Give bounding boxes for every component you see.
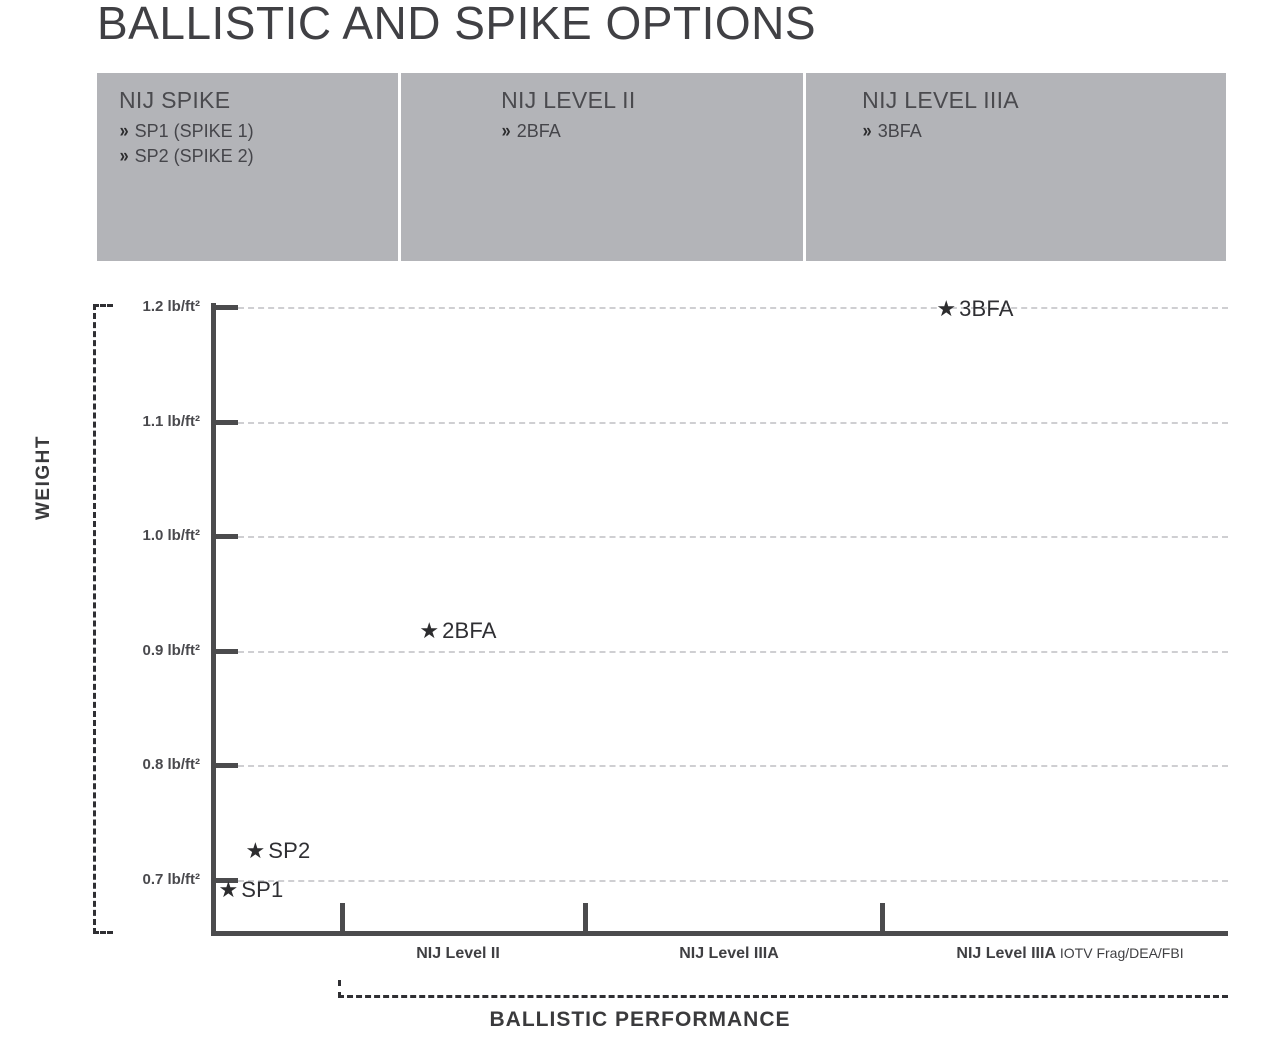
star-icon: ★ — [419, 620, 439, 642]
x-axis-tick-label: NIJ Level IIIA — [679, 945, 779, 963]
data-point-label: SP2 — [268, 838, 310, 864]
category-box-group: NIJ SPIKE » SP1 (SPIKE 1) » SP2 (SPIKE 2… — [97, 73, 1226, 261]
x-axis-tick — [583, 903, 588, 931]
y-axis-tick — [216, 649, 238, 654]
category-box-nij-level-iiia[interactable]: NIJ LEVEL IIIA » 3BFA — [806, 73, 1226, 261]
y-axis-tick — [216, 305, 238, 310]
data-point-sp2[interactable]: ★SP2 — [246, 838, 311, 864]
category-item-label: SP2 (SPIKE 2) — [135, 146, 254, 167]
data-point-sp1[interactable]: ★SP1 — [219, 877, 284, 903]
x-axis-tick — [880, 903, 885, 931]
x-axis-tick-label-main: NIJ Level IIIA — [679, 945, 779, 962]
category-list-item[interactable]: » 2BFA — [501, 121, 803, 142]
x-axis-tick — [340, 903, 345, 931]
gridline — [238, 422, 1228, 424]
y-axis-tick — [216, 763, 238, 768]
y-axis-tick-label: 1.1 lb/ft² — [80, 413, 200, 430]
y-axis-tick — [216, 420, 238, 425]
y-axis-tick-label: 0.9 lb/ft² — [80, 642, 200, 659]
gridline — [238, 651, 1228, 653]
chevron-double-right-icon: » — [863, 122, 869, 141]
chevron-double-right-icon: » — [120, 147, 126, 166]
y-axis-tick-label: 1.2 lb/ft² — [80, 298, 200, 315]
y-axis-tick — [216, 534, 238, 539]
x-axis-line — [211, 931, 1228, 936]
x-axis-tick-label: NIJ Level IIIA IOTV Frag/DEA/FBI — [956, 945, 1183, 963]
category-list-item[interactable]: » 3BFA — [862, 121, 1226, 142]
category-box-nij-spike[interactable]: NIJ SPIKE » SP1 (SPIKE 1) » SP2 (SPIKE 2… — [97, 73, 398, 261]
data-point-3bfa[interactable]: ★3BFA — [936, 296, 1013, 322]
y-axis-line — [211, 303, 216, 936]
gridline — [238, 307, 1228, 309]
weight-range-bracket — [93, 304, 113, 934]
y-axis-tick-label: 1.0 lb/ft² — [80, 527, 200, 544]
gridline — [238, 880, 1228, 882]
chevron-double-right-icon: » — [502, 122, 508, 141]
gridline — [238, 536, 1228, 538]
x-axis-tick-label: NIJ Level II — [416, 945, 500, 963]
category-title: NIJ SPIKE — [119, 87, 398, 114]
category-title: NIJ LEVEL II — [501, 87, 803, 114]
star-icon: ★ — [219, 879, 239, 901]
category-list-item[interactable]: » SP2 (SPIKE 2) — [119, 146, 398, 167]
chevron-double-right-icon: » — [120, 122, 126, 141]
gridline — [238, 765, 1228, 767]
ballistic-performance-range-bracket — [338, 980, 1228, 998]
data-point-label: SP1 — [241, 877, 283, 903]
y-axis-tick-label: 0.7 lb/ft² — [80, 871, 200, 888]
x-axis-tick-label-main: NIJ Level II — [416, 945, 500, 962]
category-list-item[interactable]: » SP1 (SPIKE 1) — [119, 121, 398, 142]
y-axis-tick-label: 0.8 lb/ft² — [80, 756, 200, 773]
page-title: BALLISTIC AND SPIKE OPTIONS — [97, 0, 816, 50]
y-axis-title: WEIGHT — [33, 435, 55, 520]
x-axis-tick-label-sub: IOTV Frag/DEA/FBI — [1056, 945, 1184, 961]
star-icon: ★ — [246, 840, 266, 862]
category-item-label: 2BFA — [517, 121, 561, 142]
data-point-label: 2BFA — [442, 618, 497, 644]
x-axis-tick-label-main: NIJ Level IIIA — [956, 945, 1056, 962]
star-icon: ★ — [936, 298, 956, 320]
category-title: NIJ LEVEL IIIA — [862, 87, 1226, 114]
data-point-label: 3BFA — [959, 296, 1014, 322]
category-box-nij-level-ii[interactable]: NIJ LEVEL II » 2BFA — [401, 73, 803, 261]
data-point-2bfa[interactable]: ★2BFA — [419, 618, 496, 644]
category-item-label: SP1 (SPIKE 1) — [135, 121, 254, 142]
x-axis-title: BALLISTIC PERFORMANCE — [0, 1008, 1280, 1032]
category-item-label: 3BFA — [878, 121, 922, 142]
